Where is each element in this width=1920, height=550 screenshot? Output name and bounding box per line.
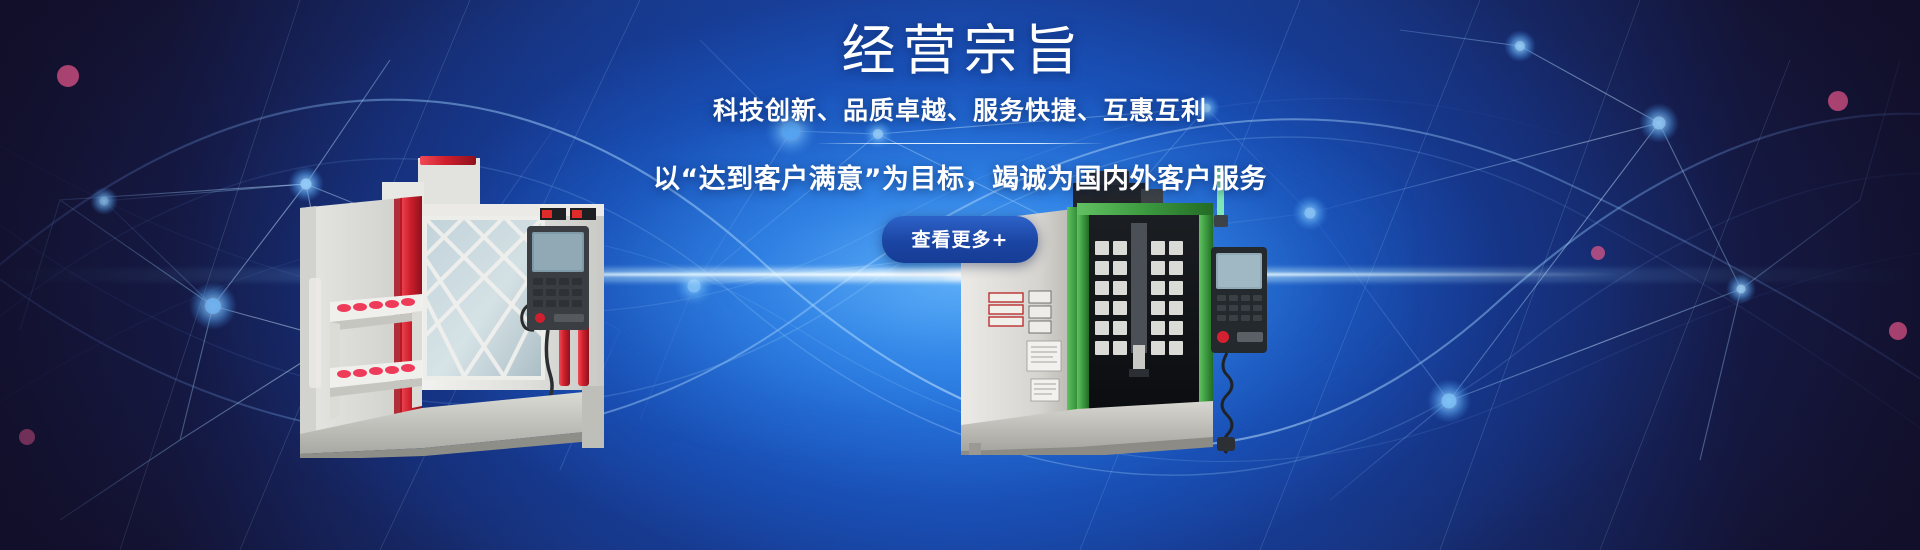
page-title: 经营宗旨 xyxy=(0,22,1920,79)
view-more-button[interactable]: 查看更多+ xyxy=(882,216,1039,263)
banner-subtitle: 科技创新、品质卓越、服务快捷、互惠互利 xyxy=(0,91,1920,127)
banner-tagline: 以“达到客户满意”为目标，竭诚为国内外客户服务 xyxy=(0,157,1920,196)
cta-container: 查看更多+ xyxy=(0,216,1920,263)
banner-text-block: 经营宗旨 科技创新、品质卓越、服务快捷、互惠互利 以“达到客户满意”为目标，竭诚… xyxy=(0,22,1920,263)
hero-banner: 经营宗旨 科技创新、品质卓越、服务快捷、互惠互利 以“达到客户满意”为目标，竭诚… xyxy=(0,0,1920,550)
divider-rule xyxy=(815,143,1105,144)
